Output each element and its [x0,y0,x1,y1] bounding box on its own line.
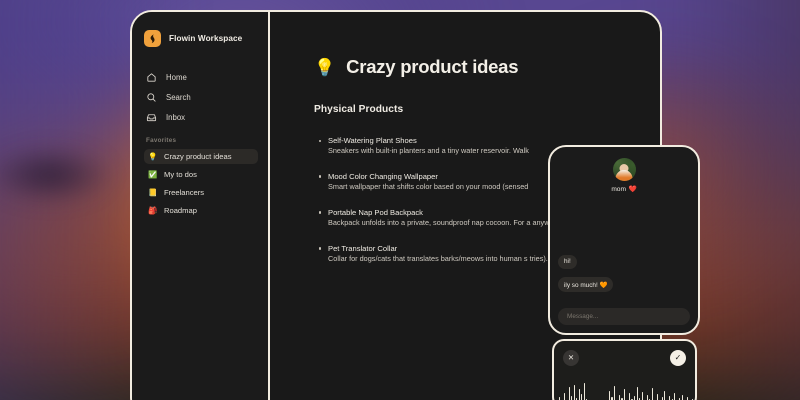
sidebar-item-freelancers[interactable]: 📒 Freelancers [144,185,258,200]
waveform-bar [629,393,630,400]
sidebar-item-label: Inbox [166,113,185,122]
waveform-bar [652,388,653,400]
waveform-bar [642,392,643,400]
sidebar-item-crazy-product-ideas[interactable]: 💡 Crazy product ideas [144,149,258,164]
waveform-bar [584,383,585,400]
sidebar-item-label: Freelancers [164,188,204,197]
waveform-bar [574,385,575,400]
chat-header: mom ❤️ [550,147,698,193]
home-icon [146,72,157,83]
waveform-bar [581,394,582,400]
heart-icon: ❤️ [628,185,636,193]
chat-message-bubble: ily so much! 🧡 [558,277,613,292]
waveform-bar [669,396,670,400]
waveform-bar [564,393,565,400]
waveform-bar [682,395,683,400]
sidebar-item-my-to-dos[interactable]: ✅ My to dos [144,167,258,182]
lightbulb-icon: 💡 [314,59,335,76]
favorites-section-label: Favorites [146,137,258,144]
waveform-bar [637,387,638,400]
contact-avatar[interactable] [613,158,636,181]
close-icon[interactable]: ✕ [563,350,579,366]
sidebar-item-inbox[interactable]: Inbox [144,109,258,125]
waveform-bar [614,386,615,400]
sidebar-item-home[interactable]: Home [144,69,258,85]
waveform-bar [619,395,620,400]
chat-message-list: hi! ily so much! 🧡 [558,250,690,297]
waveform-bar [569,387,570,400]
waveform-bar [674,393,675,400]
chat-message-bubble: hi! [558,255,577,269]
waveform-bar [657,394,658,400]
waveform-bar [571,396,572,400]
sidebar-item-label: My to dos [164,170,197,179]
waveform-bar [647,395,648,400]
waveform-bar [634,396,635,400]
waveform-bar [664,391,665,400]
message-input-placeholder: Message... [567,313,598,320]
inbox-icon [146,112,157,123]
sidebar: Flowin Workspace Home Search [132,12,270,400]
waveform-bar [609,391,610,400]
voice-recorder-panel: ✕ ✓ [552,339,697,400]
flowin-logo-icon [144,30,161,47]
recording-waveform-icon [554,379,695,400]
sidebar-item-roadmap[interactable]: 🎒 Roadmap [144,203,258,218]
sidebar-item-search[interactable]: Search [144,89,258,105]
page-title: 💡 Crazy product ideas [314,56,660,78]
sidebar-item-label: Roadmap [164,206,197,215]
check-icon[interactable]: ✓ [670,350,686,366]
section-heading: Physical Products [314,104,660,115]
page-title-text: Crazy product ideas [346,56,518,78]
workspace-name: Flowin Workspace [169,34,242,43]
contact-name-text: mom [611,186,626,193]
wallpaper-foliage-silhouette [0,120,140,230]
chat-contact-name: mom ❤️ [611,185,636,193]
checkmark-icon: ✅ [148,171,157,179]
avatar-body [616,170,633,181]
notebook-icon: 📒 [148,189,157,197]
sidebar-item-label: Home [166,73,187,82]
backpack-icon: 🎒 [148,207,157,215]
waveform-bar [579,389,580,400]
sidebar-item-label: Crazy product ideas [164,152,232,161]
waveform-bar [624,389,625,400]
message-input[interactable]: Message... [558,308,690,325]
lightbulb-icon: 💡 [148,153,157,161]
search-icon [146,92,157,103]
sidebar-item-label: Search [166,93,191,102]
workspace-switcher[interactable]: Flowin Workspace [144,30,258,47]
chat-window: mom ❤️ hi! ily so much! 🧡 Message... [548,145,700,335]
